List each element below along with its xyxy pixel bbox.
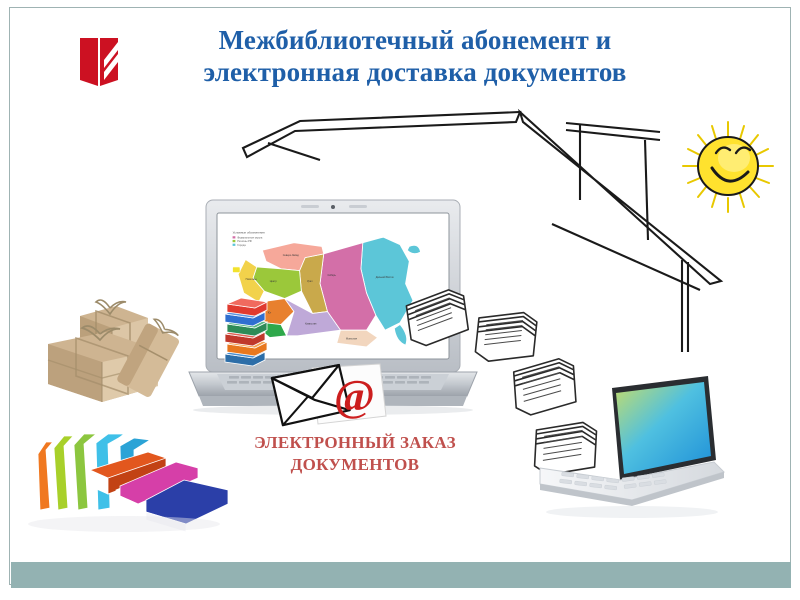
svg-text:Федеральные округа: Федеральные округа bbox=[237, 235, 263, 239]
paper-parcels-image bbox=[14, 288, 192, 410]
title-line-2: электронная доставка документов bbox=[135, 56, 695, 88]
page-title: Межбиблиотечный абонемент и электронная … bbox=[135, 24, 695, 88]
caption-line-2: ДОКУМЕНТОВ bbox=[180, 454, 530, 476]
footer-bar bbox=[11, 562, 791, 588]
svg-text:Монголия: Монголия bbox=[346, 337, 358, 340]
svg-text:Центр: Центр bbox=[270, 280, 278, 283]
svg-text:Города: Города bbox=[237, 243, 246, 247]
stacked-books-image bbox=[219, 292, 271, 368]
caption-text: ЭЛЕКТРОННЫЙ ЗАКАЗ ДОКУМЕНТОВ bbox=[180, 432, 530, 476]
svg-text:Дальний Восток: Дальний Восток bbox=[376, 276, 395, 279]
email-envelope-image: @ bbox=[268, 362, 394, 432]
title-line-1: Межбиблиотечный абонемент и bbox=[135, 24, 695, 56]
caption-line-1: ЭЛЕКТРОННЫЙ ЗАКАЗ bbox=[180, 432, 530, 454]
smiling-sun-icon bbox=[676, 118, 780, 218]
library-emblem-icon bbox=[76, 36, 122, 88]
svg-text:Казахстан: Казахстан bbox=[305, 323, 317, 326]
slide-header: Межбиблиотечный абонемент и электронная … bbox=[0, 24, 800, 104]
svg-text:Поволжье: Поволжье bbox=[246, 278, 258, 281]
presentation-slide: Межбиблиотечный абонемент и электронная … bbox=[0, 0, 800, 600]
at-sign-glyph: @ bbox=[334, 371, 375, 420]
colorful-books-image bbox=[16, 424, 232, 536]
svg-text:Условные обозначения: Условные обозначения bbox=[233, 230, 265, 234]
svg-text:Северо-Запад: Северо-Запад bbox=[283, 254, 300, 257]
svg-text:Регионы РФ: Регионы РФ bbox=[237, 239, 252, 243]
svg-text:Сибирь: Сибирь bbox=[327, 274, 336, 277]
laptop-gradient-screen-image bbox=[536, 372, 726, 522]
svg-text:Урал: Урал bbox=[307, 280, 313, 283]
